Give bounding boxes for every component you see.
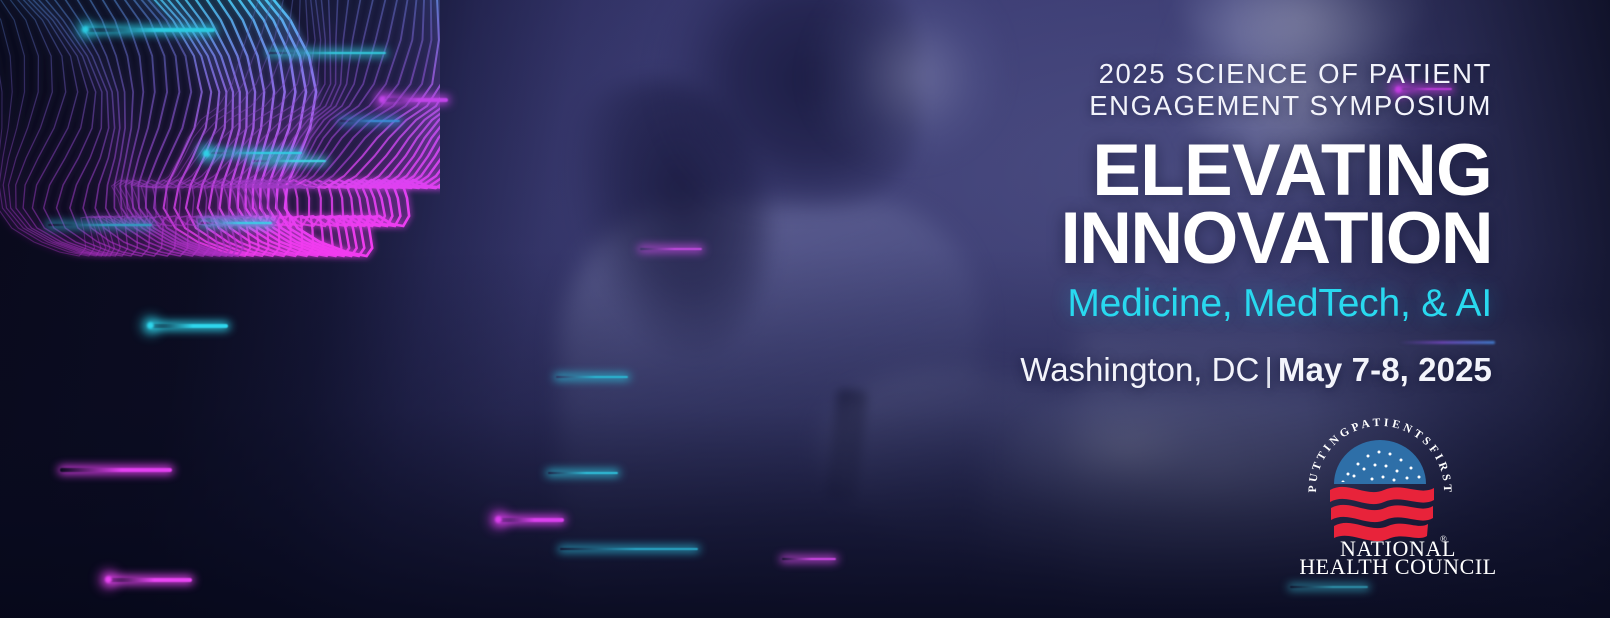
- streak-cyan-top-left: [85, 28, 215, 32]
- event-subtitle: Medicine, MedTech, & AI: [932, 282, 1492, 326]
- streak-teal-bottom: [560, 548, 698, 550]
- page-title: ELEVATING INNOVATION: [932, 137, 1492, 273]
- streak-cyan-photo-low: [548, 472, 618, 474]
- streak-teal-mid-photo: [556, 376, 628, 378]
- streak-cyan-face: [200, 222, 272, 224]
- logo-flag-stripes: [1330, 487, 1434, 541]
- event-date: May 7-8, 2025: [1278, 351, 1492, 388]
- streak-cyan-mid-node: [203, 150, 210, 157]
- streak-cyan-mid: [206, 152, 302, 154]
- streak-magenta-top: [382, 98, 448, 102]
- streak-cyan-cheek-node: [147, 322, 154, 329]
- streak-magenta-neck: [108, 578, 192, 582]
- streak-magenta-low-node: [495, 516, 502, 523]
- streak-teal-right: [252, 160, 326, 162]
- streak-magenta-top-node: [379, 96, 386, 103]
- subtitle-accent-rule: [1399, 341, 1495, 344]
- streak-blue-slim: [340, 120, 400, 122]
- headline-line-2: INNOVATION: [932, 205, 1492, 273]
- logo-org-line-2: HEALTH COUNCIL: [1300, 554, 1496, 576]
- streak-pink-bottom: [782, 558, 836, 560]
- logo-flag-field: [1334, 440, 1426, 492]
- streak-teal-low-left: [48, 224, 152, 226]
- streak-cyan-upper: [268, 52, 386, 54]
- event-eyebrow: 2025 SCIENCE OF PATIENT ENGAGEMENT SYMPO…: [932, 58, 1492, 123]
- streak-teal-br: [1290, 586, 1368, 588]
- streak-magenta-chin: [60, 468, 172, 472]
- symposium-banner: 2025 SCIENCE OF PATIENT ENGAGEMENT SYMPO…: [0, 0, 1610, 618]
- ai-face-line-art: [0, 0, 440, 618]
- event-meta: Washington, DC|May 7-8, 2025: [932, 351, 1492, 389]
- banner-copy: 2025 SCIENCE OF PATIENT ENGAGEMENT SYMPO…: [932, 58, 1492, 389]
- streak-magenta-neck-node: [105, 576, 112, 583]
- streak-cyan-top-left-node: [82, 26, 89, 33]
- streak-magenta-low: [498, 518, 564, 522]
- meta-separator: |: [1259, 351, 1278, 388]
- streak-cyan-cheek: [150, 324, 228, 328]
- event-location: Washington, DC: [1020, 351, 1259, 388]
- national-health-council-logo[interactable]: P U T T I N G P A T I E N T S F I R S T: [1300, 404, 1496, 576]
- streak-pink-photo: [640, 248, 702, 250]
